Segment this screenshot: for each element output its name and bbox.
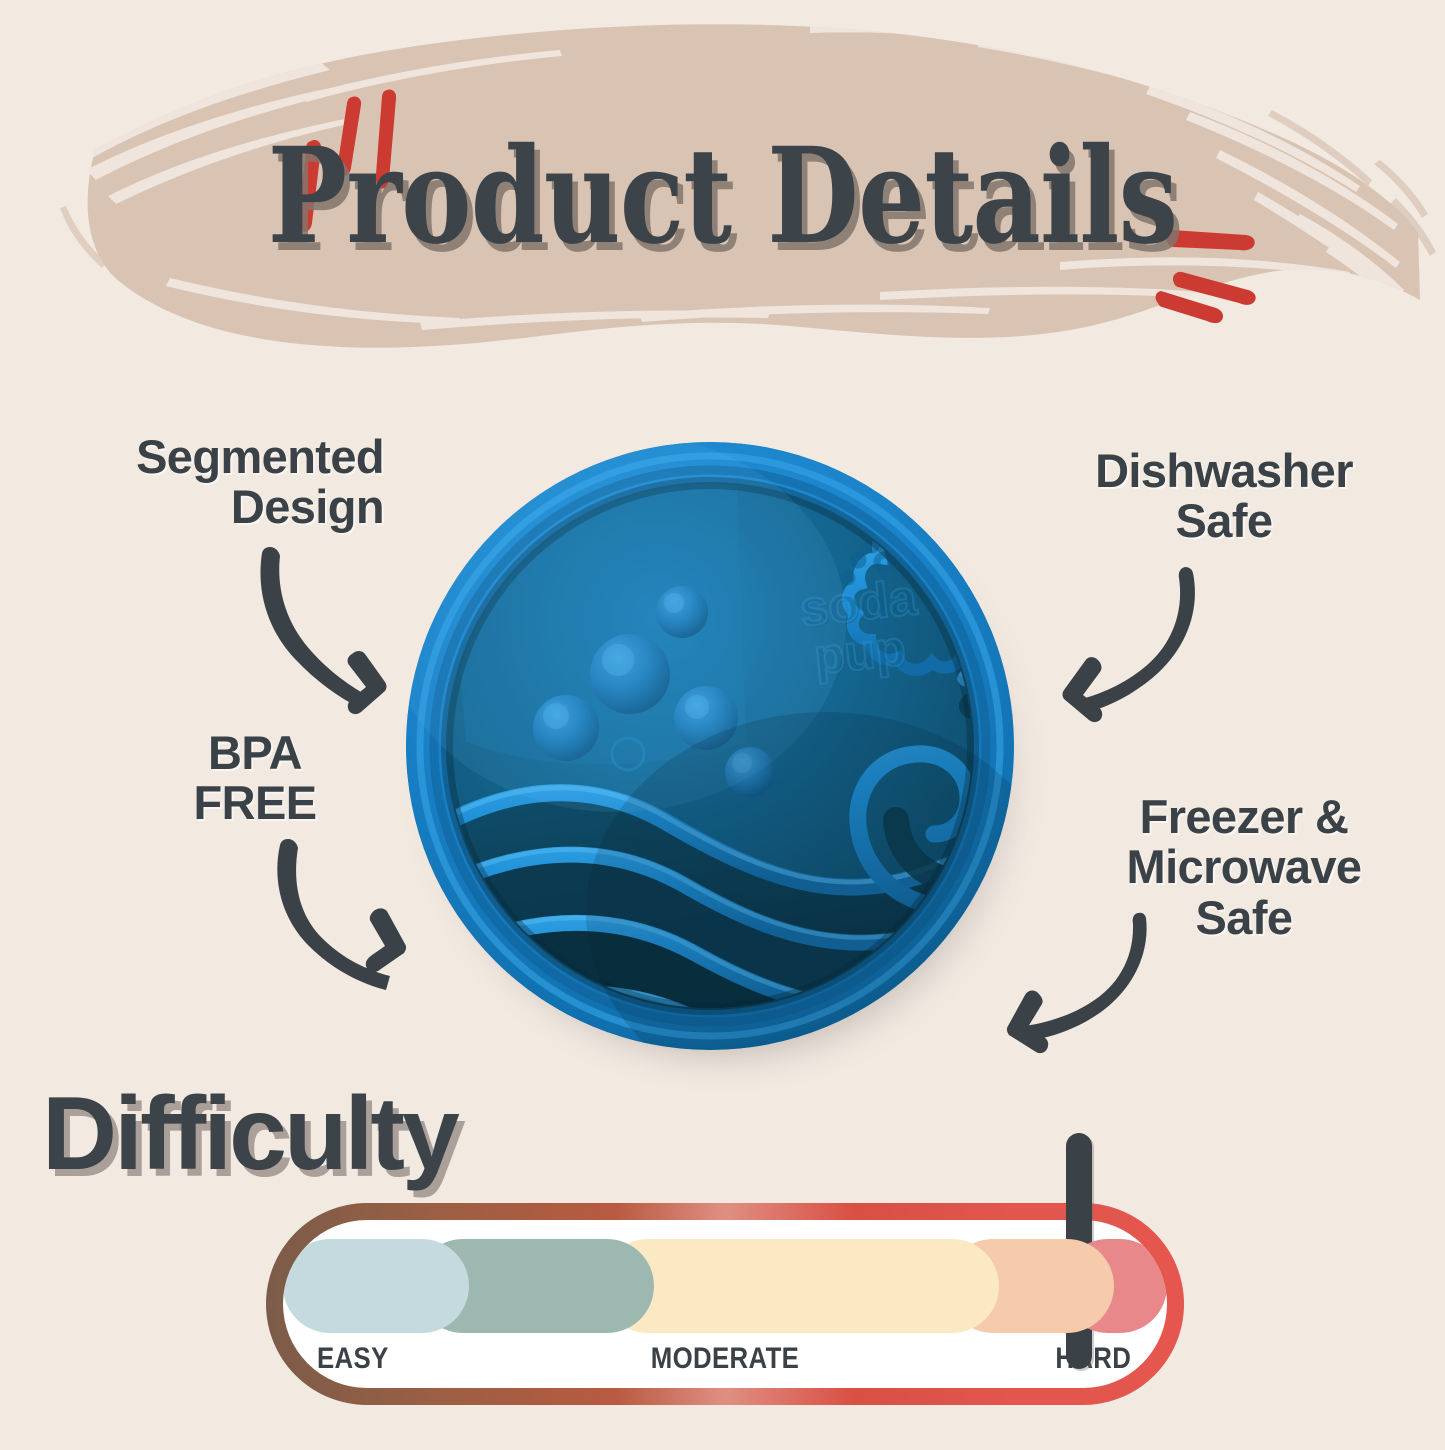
difficulty-segments	[283, 1239, 1167, 1333]
difficulty-heading: Difficulty	[42, 1082, 457, 1186]
feature-label-bpa-free: BPA FREE	[150, 728, 360, 829]
product-image: soda pup soda pup	[398, 432, 1034, 1082]
difficulty-segment-easy	[283, 1239, 469, 1333]
slow-feeder-bowl-icon: soda pup soda pup	[406, 442, 1014, 1050]
feature-label-freezer-microwave-safe: Freezer & Microwave Safe	[1060, 792, 1428, 943]
difficulty-label-moderate: MODERATE	[651, 1342, 799, 1376]
difficulty-meter[interactable]: EASY MODERATE HARD	[266, 1203, 1184, 1405]
infographic-canvas: Product Details	[0, 0, 1445, 1445]
page-title: Product Details	[145, 128, 1301, 267]
difficulty-meter-track: EASY MODERATE HARD	[283, 1220, 1167, 1388]
difficulty-label-easy: EASY	[317, 1342, 389, 1376]
difficulty-scale-labels: EASY MODERATE HARD	[283, 1328, 1167, 1380]
difficulty-segment-moderate	[601, 1239, 999, 1333]
arrow-dishwasher-safe	[1063, 567, 1195, 722]
feature-label-dishwasher-safe: Dishwasher Safe	[1038, 446, 1410, 547]
feature-label-segmented-design: Segmented Design	[24, 432, 384, 533]
arrow-segmented-design	[260, 547, 386, 714]
arrow-bpa-free	[277, 839, 406, 990]
